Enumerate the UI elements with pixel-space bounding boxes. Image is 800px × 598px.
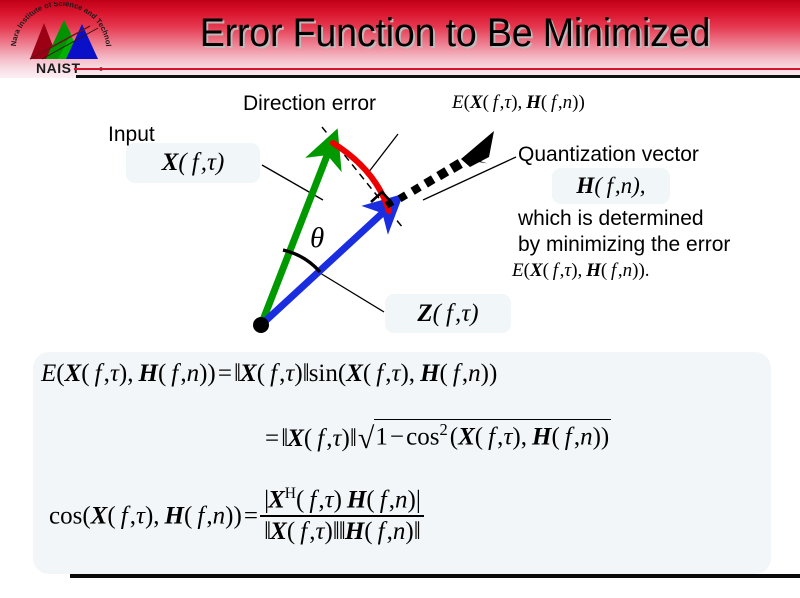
label-quantization-vector: Quantization vector — [518, 143, 699, 167]
math-top-error-function: E(X( f ,τ), H( f ,n)) — [452, 92, 585, 114]
equation-line-1: E(X( f ,τ), H( f ,n)) = ‖X( f ,τ)‖sin(X(… — [41, 360, 497, 388]
page-title: Error Function to Be Minimized — [140, 3, 770, 65]
bottom-rule — [70, 574, 800, 578]
math-box-input-vector: X( f ,τ) — [126, 143, 260, 183]
theta-symbol: θ — [310, 222, 324, 255]
equation-line-2: = ‖X( f ,τ)‖√1 − cos2 (X( f ,τ), H( f ,n… — [265, 420, 611, 454]
slide-header: Nara Institute of Science and Technology… — [0, 0, 800, 78]
naist-logo: Nara Institute of Science and Technology… — [2, 2, 120, 78]
math-box-projection-vector: Z( f ,τ) — [385, 294, 511, 333]
label-by-minimizing-the-error: by minimizing the error — [518, 233, 730, 257]
title-underline-red — [74, 68, 800, 70]
label-direction-error: Direction error — [243, 92, 376, 116]
math-bottom-error-function: E(X( f ,τ), H( f ,n)). — [512, 260, 650, 282]
equation-line-3: cos(X( f ,τ), H( f ,n)) = |XH( f ,τ) H( … — [49, 487, 424, 548]
math-box-quantization-vector: H( f ,n), — [552, 168, 670, 204]
label-which-is-determined: which is determined — [518, 207, 704, 231]
equation-block: E(X( f ,τ), H( f ,n)) = ‖X( f ,τ)‖sin(X(… — [33, 352, 771, 574]
